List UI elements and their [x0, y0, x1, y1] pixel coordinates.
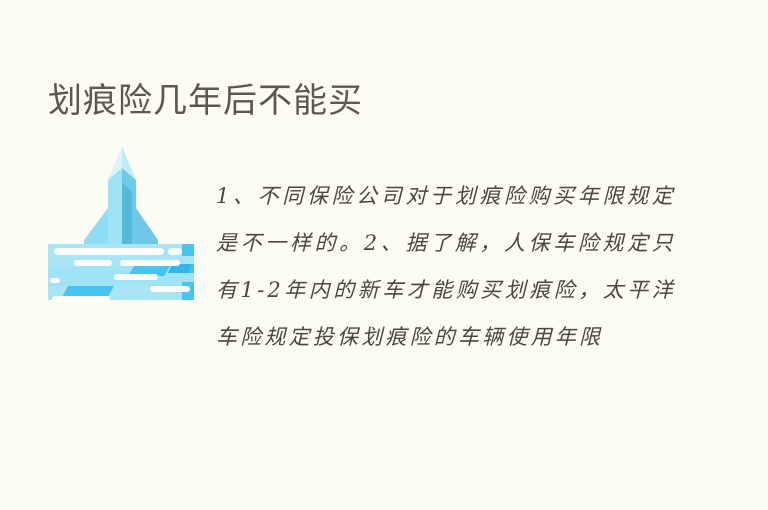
iceberg-illustration — [46, 140, 196, 300]
article-body-text: 1、不同保险公司对于划痕险购买年限规定是不一样的。2、据了解，人保车险规定只有1… — [216, 173, 676, 361]
page-title: 划痕险几年后不能买 — [48, 78, 363, 124]
article-card: 划痕险几年后不能买 — [0, 0, 768, 510]
iceberg-icon — [46, 140, 196, 300]
